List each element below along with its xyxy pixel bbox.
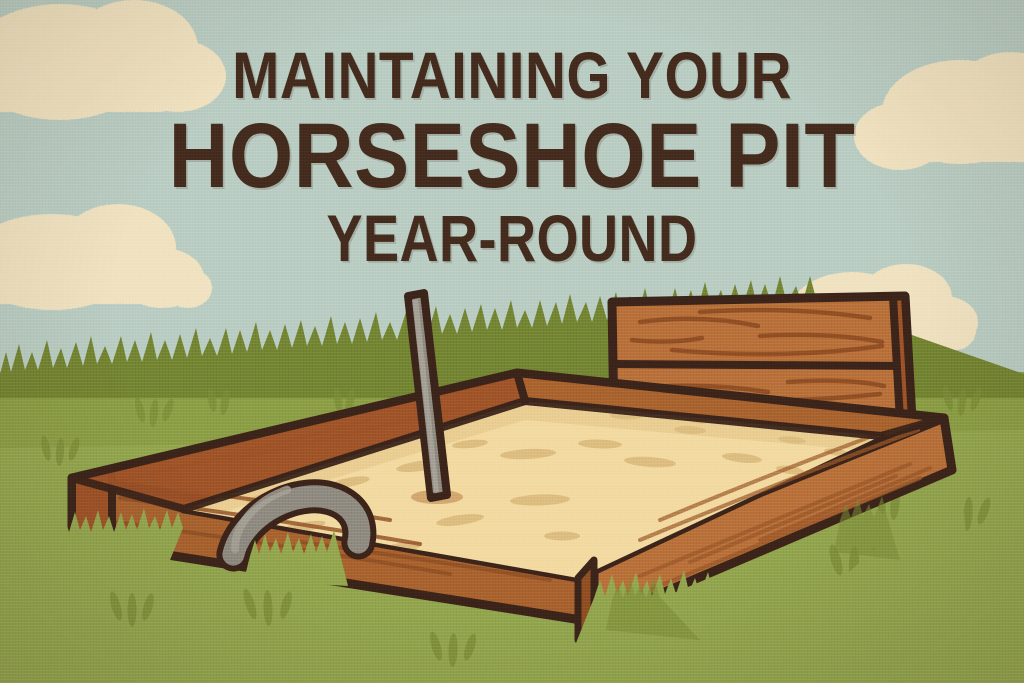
poster-canvas: MAINTAINING YOUR HORSESHOE PIT YEAR-ROUN… [0,0,1024,683]
backboard-plank-split [613,364,909,366]
scene-illustration [0,0,1024,683]
